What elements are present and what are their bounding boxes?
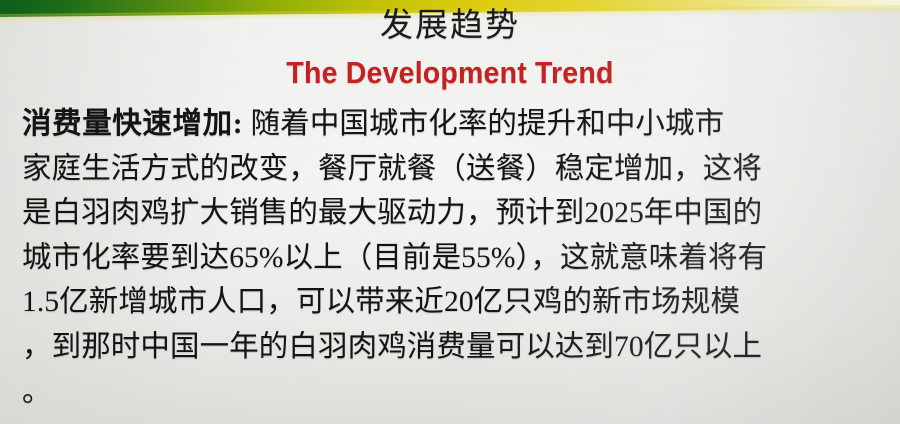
body-line-4: 城市化率要到达65%以上（目前是55%），这就意味着将有 <box>22 236 882 281</box>
body-lead-phrase: 消费量快速增加 <box>22 108 233 140</box>
body-line-3: 是白羽肉鸡扩大销售的最大驱动力，预计到2025年中国的 <box>22 191 882 236</box>
page-title-chinese: 发展趋势 <box>0 6 900 46</box>
body-line-1: 消费量快速增加: 随着中国城市化率的提升和中小城市 <box>22 102 882 147</box>
body-line-7-period: 。 <box>22 370 882 415</box>
page-title-english: The Development Trend <box>36 54 864 92</box>
body-lead-separator: : <box>233 108 243 140</box>
body-line-5: 1.5亿新增城市人口，可以带来近20亿只鸡的新市场规模 <box>22 280 882 325</box>
body-line-6: ，到那时中国一年的白羽肉鸡消费量可以达到70亿只以上 <box>22 325 882 370</box>
body-line-1-text: 随着中国城市化率的提升和中小城市 <box>243 108 724 140</box>
body-line-2: 家庭生活方式的改变，餐厅就餐（送餐）稳定增加，这将 <box>22 147 882 192</box>
presentation-slide-photo: 发展趋势 The Development Trend 消费量快速增加: 随着中国… <box>0 0 900 424</box>
slide-body: 消费量快速增加: 随着中国城市化率的提升和中小城市 家庭生活方式的改变，餐厅就餐… <box>22 102 882 414</box>
